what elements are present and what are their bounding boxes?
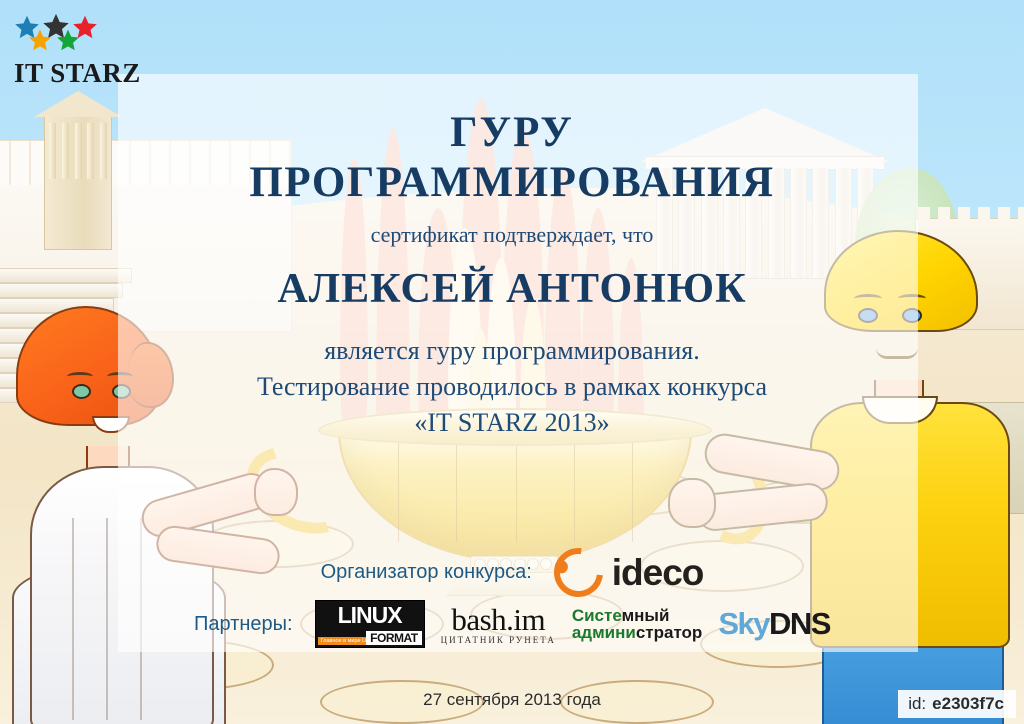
- ideco-swirl-icon: [544, 538, 613, 607]
- certificate-title-line1: ГУРУ: [0, 108, 1024, 157]
- logo-stars: [10, 12, 128, 58]
- ideco-logo[interactable]: ideco: [554, 548, 704, 597]
- recipient-name: АЛЕКСЕЙ АНТОНЮК: [0, 265, 1024, 313]
- certificate-title-line2: ПРОГРАММИРОВАНИЯ: [0, 158, 1024, 207]
- sysadmin-line1: Системный: [572, 607, 703, 624]
- certificate-content: ГУРУ ПРОГРАММИРОВАНИЯ сертификат подтвер…: [0, 0, 1024, 724]
- certificate-id: id:e2303f7c: [898, 690, 1016, 718]
- bash-im-wordmark: bash.im: [451, 604, 545, 635]
- body-line-3: «IT STARZ 2013»: [0, 406, 1024, 440]
- body-line-2: Тестирование проводилось в рамках конкур…: [0, 370, 1024, 404]
- certificate-date: 27 сентября 2013 года: [0, 690, 1024, 710]
- certificate-canvas: IT STARZ ГУРУ ПРОГРАММИРОВАНИЯ сертифика…: [0, 0, 1024, 724]
- certificate-id-label: id:: [908, 694, 926, 713]
- linux-format-line1: LINUX: [321, 603, 419, 627]
- sistemnyj-administrator-logo[interactable]: Системный администратор: [572, 607, 703, 642]
- partners-row: Партнеры: LINUX Главное в мире Linux FOR…: [0, 600, 1024, 648]
- ideco-wordmark: ideco: [612, 552, 704, 594]
- body-line-1: является гуру программирования.: [0, 334, 1024, 368]
- bash-im-tagline: ЦИТАТНИК РУНЕТА: [441, 636, 556, 645]
- skydns-dns: DNS: [769, 606, 830, 641]
- sysadmin-line2: администратор: [572, 624, 703, 641]
- bash-im-logo[interactable]: bash.im ЦИТАТНИК РУНЕТА: [441, 604, 556, 645]
- skydns-logo[interactable]: SkyDNS: [718, 606, 830, 642]
- skydns-sky: Sky: [718, 606, 769, 641]
- organizer-label: Организатор конкурса:: [321, 561, 532, 584]
- logo-wordmark: IT STARZ: [14, 58, 141, 89]
- linux-format-line2: FORMAT: [366, 631, 421, 645]
- linux-format-logo[interactable]: LINUX Главное в мире Linux FORMAT: [315, 600, 425, 648]
- certificate-subtitle: сертификат подтверждает, что: [0, 222, 1024, 248]
- partners-label: Партнеры:: [194, 613, 293, 636]
- certificate-id-value: e2303f7c: [932, 694, 1004, 713]
- it-starz-logo: IT STARZ: [10, 12, 128, 98]
- organizer-row: Организатор конкурса: ideco: [0, 548, 1024, 597]
